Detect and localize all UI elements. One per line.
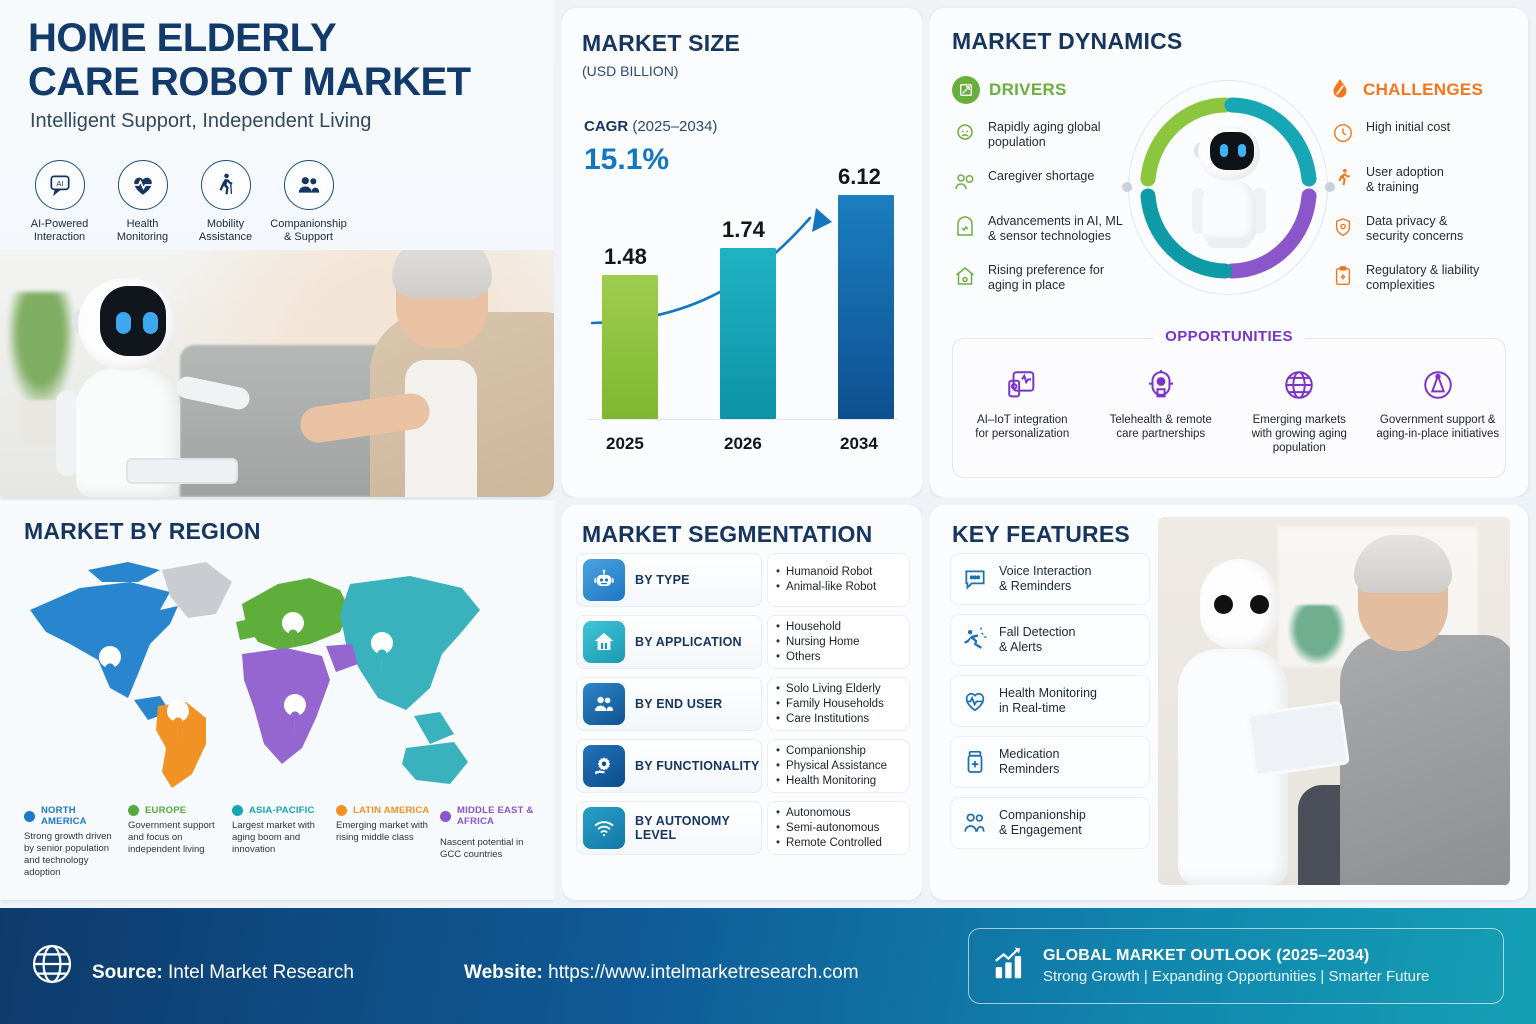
challenges-list: High initial cost User adoption & traini… — [1330, 120, 1525, 312]
legend-item-europe: EUROPE Government support and focus on i… — [128, 805, 232, 879]
hero-feature-mobility: Mobility Assistance — [184, 160, 267, 244]
market-dynamics-title: MARKET DYNAMICS — [952, 28, 1182, 55]
bar-category-1: 2026 — [724, 434, 762, 454]
segmentation-label: BY APPLICATION — [635, 635, 742, 649]
legend-label: LATIN AMERICA — [353, 805, 429, 816]
opportunity-item: AI–IoT integration for personalization — [953, 365, 1092, 455]
svg-text:AI: AI — [56, 179, 63, 188]
hero-photo-elderly-woman-with-robot — [0, 250, 554, 497]
heart-pulse-icon — [961, 687, 989, 715]
challenge-item: High initial cost — [1330, 120, 1525, 146]
caregiver-icon — [952, 169, 978, 195]
market-by-region-title: MARKET BY REGION — [24, 518, 261, 545]
key-feature-medication-reminders: Medication Reminders — [950, 736, 1150, 788]
layout-gutter — [562, 497, 1536, 505]
market-by-region-panel: MARKET BY REGION — [0, 500, 554, 900]
legend-description: Largest market with aging boom and innov… — [232, 820, 328, 856]
bar-2026 — [720, 248, 776, 419]
bar-group-0 — [602, 275, 658, 419]
region-asia-pacific — [340, 576, 480, 710]
challenge-item: Data privacy & security concerns — [1330, 214, 1525, 244]
hero-feature-label: Companionship & Support — [267, 218, 350, 244]
legend-item-latin-america: LATIN AMERICA Emerging market with risin… — [336, 805, 440, 879]
legend-item-north-america: NORTH AMERICA Strong growth driven by se… — [24, 805, 128, 879]
footer-source: Source: Intel Market Research — [92, 962, 354, 984]
market-size-unit: (USD BILLION) — [582, 63, 678, 79]
title-line-1: HOME ELDERLY — [28, 16, 471, 60]
key-feature-voice-interaction: Voice Interaction & Reminders — [950, 553, 1150, 605]
market-size-title: MARKET SIZE — [582, 30, 740, 57]
segmentation-row-by-type: BY TYPE •Humanoid Robot •Animal-like Rob… — [576, 553, 910, 607]
chart-axis-line — [588, 419, 898, 420]
global-market-outlook-box: GLOBAL MARKET OUTLOOK (2025–2034) Strong… — [968, 928, 1504, 1004]
speech-bubble-icon — [961, 565, 989, 593]
outlook-subtitle: Strong Growth | Expanding Opportunities … — [1043, 968, 1429, 985]
hero-feature-label: AI-Powered Interaction — [18, 218, 101, 244]
drivers-heading: DRIVERS — [952, 76, 1067, 104]
hero-feature-ai: AI AI-Powered Interaction — [18, 160, 101, 244]
legend-label: ASIA-PACIFIC — [249, 805, 315, 816]
government-badge-icon — [1375, 365, 1502, 405]
challenge-item: User adoption & training — [1330, 165, 1525, 195]
region-north-america — [30, 582, 178, 698]
users-icon — [583, 683, 625, 725]
opportunities-title-wrap: OPPORTUNITIES — [953, 328, 1505, 346]
legend-dot — [232, 805, 243, 816]
market-size-panel: MARKET SIZE (USD BILLION) CAGR (2025–203… — [562, 8, 922, 497]
bar-value-1: 1.74 — [722, 217, 765, 243]
heart-pulse-icon — [118, 160, 168, 210]
layout-gutter — [922, 0, 930, 908]
cost-clock-icon — [1330, 120, 1356, 146]
segmentation-row-by-autonomy-level: BY AUTONOMY LEVEL •Autonomous •Semi-auto… — [576, 801, 910, 855]
market-segmentation-panel: MARKET SEGMENTATION BY TYPE •Humanoid Ro… — [562, 505, 922, 900]
subtitle: Intelligent Support, Independent Living — [30, 110, 371, 133]
clipboard-icon — [1330, 263, 1356, 289]
segmentation-label: BY FUNCTIONALITY — [635, 759, 760, 773]
footer-website: Website: https://www.intelmarketresearch… — [464, 962, 859, 984]
wifi-icon — [583, 807, 625, 849]
opportunities-grid: AI–IoT integration for personalization T… — [953, 365, 1507, 455]
house-icon — [583, 621, 625, 663]
legend-label: EUROPE — [145, 805, 186, 816]
hero-feature-companionship: Companionship & Support — [267, 160, 350, 244]
segmentation-row-by-application: BY APPLICATION •Household •Nursing Home … — [576, 615, 910, 669]
key-features-list: Voice Interaction & Reminders Fall Detec… — [950, 553, 1150, 858]
legend-dot — [440, 811, 451, 822]
segmentation-values: •Companionship •Physical Assistance •Hea… — [767, 739, 910, 793]
drivers-list: Rapidly aging global population Caregive… — [952, 120, 1147, 312]
pill-bottle-icon — [961, 748, 989, 776]
gear-hand-icon — [583, 745, 625, 787]
hero-panel: HOME ELDERLY CARE ROBOT MARKET Intellige… — [0, 0, 554, 497]
cagr-label: CAGR (2025–2034) — [584, 118, 717, 135]
opportunity-item: Government support & aging-in-place init… — [1369, 365, 1508, 455]
opportunity-item: Emerging markets with growing aging popu… — [1230, 365, 1369, 455]
legend-item-middle-east-africa: MIDDLE EAST & AFRICA Nascent potential i… — [440, 805, 544, 879]
globe-icon — [28, 940, 76, 993]
bar-2025 — [602, 275, 658, 419]
legend-dot — [24, 811, 35, 822]
bar-value-0: 1.48 — [604, 244, 647, 270]
bar-value-2: 6.12 — [838, 164, 881, 190]
segmentation-row-by-end-user: BY END USER •Solo Living Elderly •Family… — [576, 677, 910, 731]
bar-2034 — [838, 195, 894, 419]
segmentation-label: BY AUTONOMY LEVEL — [635, 814, 761, 842]
key-features-title: KEY FEATURES — [952, 521, 1130, 548]
robot-mascot — [1188, 126, 1270, 248]
infographic-page: HOME ELDERLY CARE ROBOT MARKET Intellige… — [0, 0, 1536, 1024]
opportunity-item: Telehealth & remote care partnerships — [1092, 365, 1231, 455]
key-feature-companionship: Companionship & Engagement — [950, 797, 1150, 849]
cagr-value: 15.1% — [584, 143, 669, 177]
hero-feature-label: Health Monitoring — [101, 218, 184, 244]
ai-iot-device-icon — [959, 365, 1086, 405]
walking-cane-icon — [201, 160, 251, 210]
aging-face-icon — [952, 120, 978, 146]
market-segmentation-title: MARKET SEGMENTATION — [582, 521, 872, 548]
outlook-text-block: GLOBAL MARKET OUTLOOK (2025–2034) Strong… — [1043, 947, 1429, 985]
legend-description: Strong growth driven by senior populatio… — [24, 831, 120, 879]
driver-item: Rapidly aging global population — [952, 120, 1147, 150]
segmentation-values: •Solo Living Elderly •Family Households … — [767, 677, 910, 731]
challenges-label: CHALLENGES — [1363, 80, 1483, 100]
segmentation-label: BY END USER — [635, 697, 722, 711]
outlook-title: GLOBAL MARKET OUTLOOK (2025–2034) — [1043, 947, 1429, 965]
telehealth-icon — [1098, 365, 1225, 405]
challenge-item: Regulatory & liability complexities — [1330, 263, 1525, 293]
bar-group-1 — [720, 248, 776, 419]
layout-gutter — [554, 0, 562, 908]
bar-category-0: 2025 — [606, 434, 644, 454]
bar-chart-up-icon — [991, 945, 1029, 988]
key-features-photo-robot-with-elderly-man — [1158, 517, 1510, 885]
world-map — [10, 548, 550, 798]
growth-chart-badge-icon — [952, 76, 980, 104]
driver-item: Rising preference for aging in place — [952, 263, 1147, 293]
opportunities-box: OPPORTUNITIES AI–IoT integration for per… — [952, 338, 1506, 478]
segmentation-label: BY TYPE — [635, 573, 690, 587]
key-feature-health-monitoring: Health Monitoring in Real-time — [950, 675, 1150, 727]
hero-feature-label: Mobility Assistance — [184, 218, 267, 244]
people-icon — [284, 160, 334, 210]
legend-description: Emerging market with rising middle class — [336, 820, 432, 844]
dynamics-ring — [1126, 78, 1331, 298]
robot-face-icon — [583, 559, 625, 601]
segmentation-row-by-functionality: BY FUNCTIONALITY •Companionship •Physica… — [576, 739, 910, 793]
market-dynamics-panel: MARKET DYNAMICS DRIVERS Rapidly aging gl… — [930, 8, 1528, 497]
globe-icon — [1236, 365, 1363, 405]
market-size-bar-chart: 1.48 2025 1.74 2026 6.12 2034 — [580, 178, 906, 468]
ai-chat-icon: AI — [35, 160, 85, 210]
legend-dot — [336, 805, 347, 816]
region-australia — [402, 742, 468, 784]
footer-website-url[interactable]: https://www.intelmarketresearch.com — [548, 962, 858, 983]
challenges-heading: CHALLENGES — [1326, 76, 1483, 104]
segmentation-values: •Humanoid Robot •Animal-like Robot — [767, 553, 910, 607]
legend-description: Government support and focus on independ… — [128, 820, 224, 856]
companions-icon — [961, 809, 989, 837]
title-line-2: CARE ROBOT MARKET — [28, 60, 471, 104]
driver-item: Advancements in AI, ML & sensor technolo… — [952, 214, 1147, 244]
bar-category-2: 2034 — [840, 434, 878, 454]
segmentation-values: •Autonomous •Semi-autonomous •Remote Con… — [767, 801, 910, 855]
legend-label: NORTH AMERICA — [41, 805, 120, 827]
drivers-label: DRIVERS — [989, 80, 1067, 100]
key-features-panel: KEY FEATURES Voice Interaction & Reminde… — [930, 505, 1528, 900]
hero-feature-row: AI AI-Powered Interaction Health — [18, 160, 350, 244]
driver-item: Caregiver shortage — [952, 169, 1147, 195]
hero-feature-health: Health Monitoring — [101, 160, 184, 244]
legend-description: Nascent potential in GCC countries — [440, 837, 536, 861]
shield-lock-icon — [1330, 214, 1356, 240]
key-feature-fall-detection: Fall Detection & Alerts — [950, 614, 1150, 666]
legend-label: MIDDLE EAST & AFRICA — [457, 805, 536, 827]
opportunities-title: OPPORTUNITIES — [1153, 328, 1305, 345]
region-legend: NORTH AMERICA Strong growth driven by se… — [24, 805, 544, 879]
legend-dot — [128, 805, 139, 816]
home-heart-icon — [952, 263, 978, 289]
legend-item-asia-pacific: ASIA-PACIFIC Largest market with aging b… — [232, 805, 336, 879]
page-title: HOME ELDERLY CARE ROBOT MARKET — [28, 16, 471, 104]
segmentation-rows: BY TYPE •Humanoid Robot •Animal-like Rob… — [576, 553, 910, 863]
bar-group-2 — [838, 195, 894, 419]
fall-detection-icon — [961, 626, 989, 654]
ai-brain-icon — [952, 214, 978, 240]
segmentation-values: •Household •Nursing Home •Others — [767, 615, 910, 669]
